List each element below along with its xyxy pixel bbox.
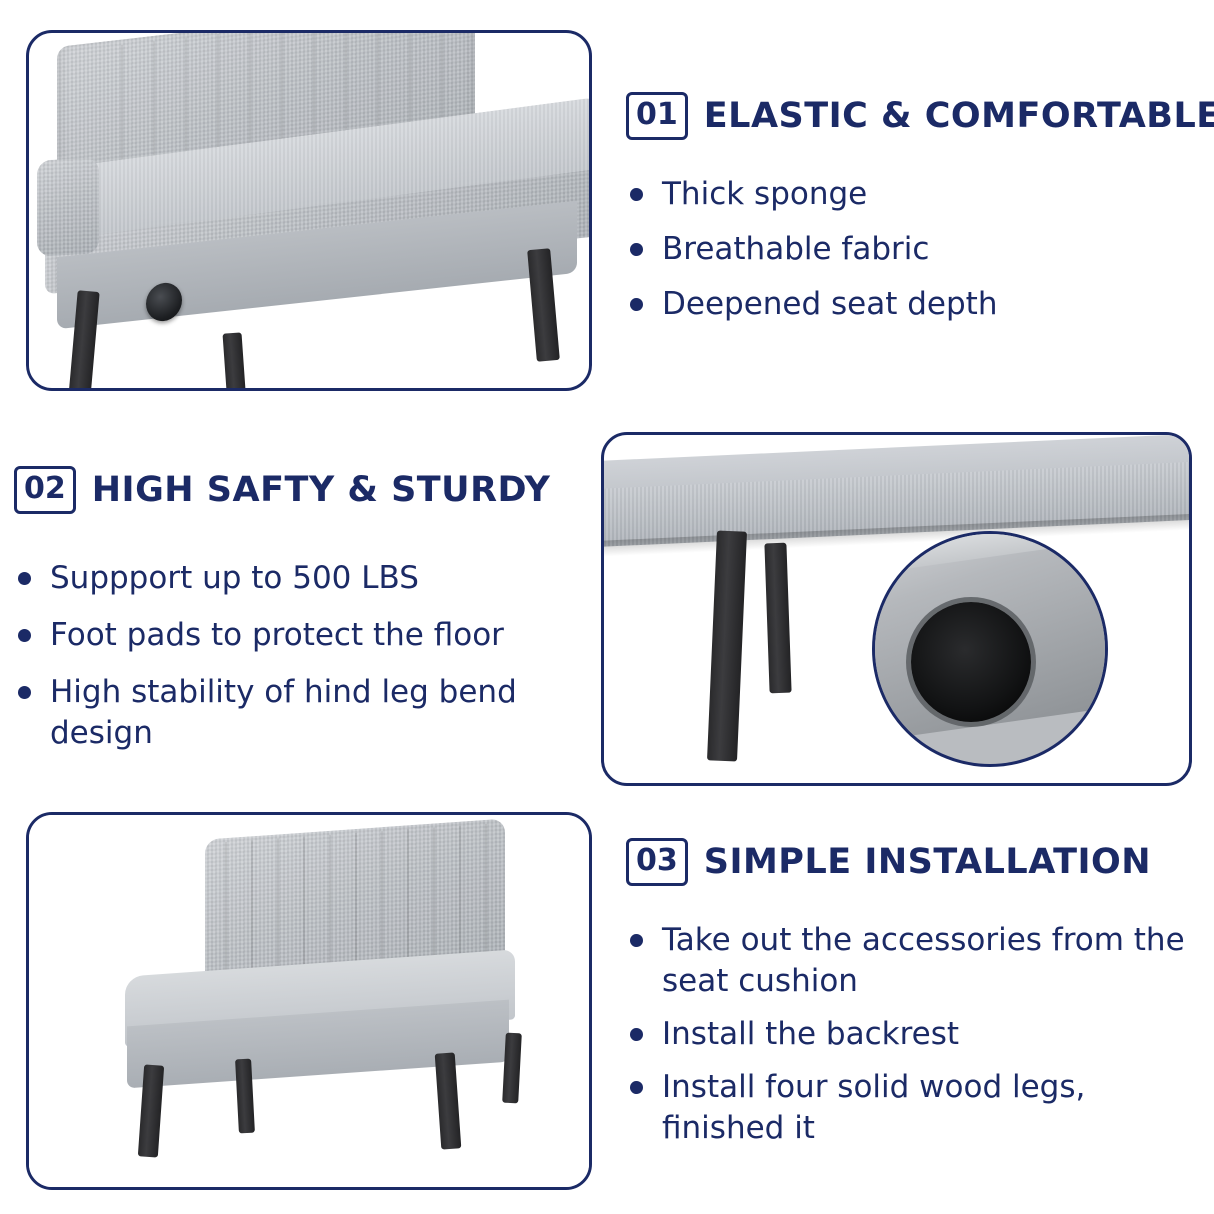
feature-3-bullet-list: Take out the accessories from the seat c… (626, 920, 1196, 1149)
product-photo-leg-closeup (601, 432, 1192, 786)
product-feature-infographic: 01 ELASTIC & COMFORTABLE Thick sponge Br… (0, 0, 1214, 1214)
foot-pad-magnifier (872, 531, 1108, 767)
list-item: Foot pads to protect the floor (14, 615, 589, 656)
feature-1-heading: 01 ELASTIC & COMFORTABLE (626, 92, 1186, 140)
feature-block-1: 01 ELASTIC & COMFORTABLE Thick sponge Br… (626, 92, 1186, 339)
feature-3-number: 03 (626, 838, 688, 886)
feature-block-3: 03 SIMPLE INSTALLATION Take out the acce… (626, 838, 1196, 1161)
feature-block-2: 02 HIGH SAFTY & STURDY Suppport up to 50… (14, 466, 589, 770)
product-photo-seat-closeup (26, 30, 592, 391)
bench-leg-front (707, 530, 747, 761)
list-item: High stability of hind leg bend design (14, 672, 589, 754)
feature-1-bullet-list: Thick sponge Breathable fabric Deepened … (626, 174, 1186, 325)
list-item: Breathable fabric (626, 229, 1186, 270)
feature-1-title: ELASTIC & COMFORTABLE (704, 96, 1214, 136)
bench-side-arm (37, 157, 99, 256)
foot-pad-icon (911, 602, 1031, 722)
list-item: Deepened seat depth (626, 284, 1186, 325)
feature-3-heading: 03 SIMPLE INSTALLATION (626, 838, 1196, 886)
feature-1-number: 01 (626, 92, 688, 140)
bench-leg-rear-left (223, 332, 247, 391)
feature-2-bullet-list: Suppport up to 500 LBS Foot pads to prot… (14, 558, 589, 754)
list-item: Thick sponge (626, 174, 1186, 215)
photo-3-artwork (29, 815, 589, 1187)
list-item: Install four solid wood legs, finished i… (626, 1067, 1196, 1149)
list-item: Install the backrest (626, 1014, 1196, 1055)
feature-2-heading: 02 HIGH SAFTY & STURDY (14, 466, 589, 514)
feature-2-number: 02 (14, 466, 76, 514)
bench-leg-rear (764, 543, 791, 694)
product-photo-full-bench (26, 812, 592, 1190)
list-item: Suppport up to 500 LBS (14, 558, 589, 599)
feature-2-title: HIGH SAFTY & STURDY (92, 470, 551, 510)
photo-1-artwork (29, 33, 589, 388)
list-item: Take out the accessories from the seat c… (626, 920, 1196, 1002)
feature-3-title: SIMPLE INSTALLATION (704, 842, 1151, 882)
photo-2-artwork (604, 435, 1189, 783)
